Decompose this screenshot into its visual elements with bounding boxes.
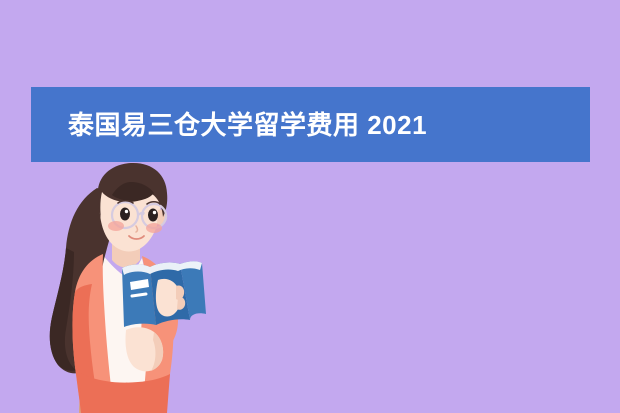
page-title: 泰国易三仓大学留学费用 2021 — [68, 112, 427, 138]
illustration-woman-reading-book — [30, 160, 250, 413]
page-root: 泰国易三仓大学留学费用 2021 — [0, 0, 620, 413]
title-banner: 泰国易三仓大学留学费用 2021 — [31, 87, 590, 162]
